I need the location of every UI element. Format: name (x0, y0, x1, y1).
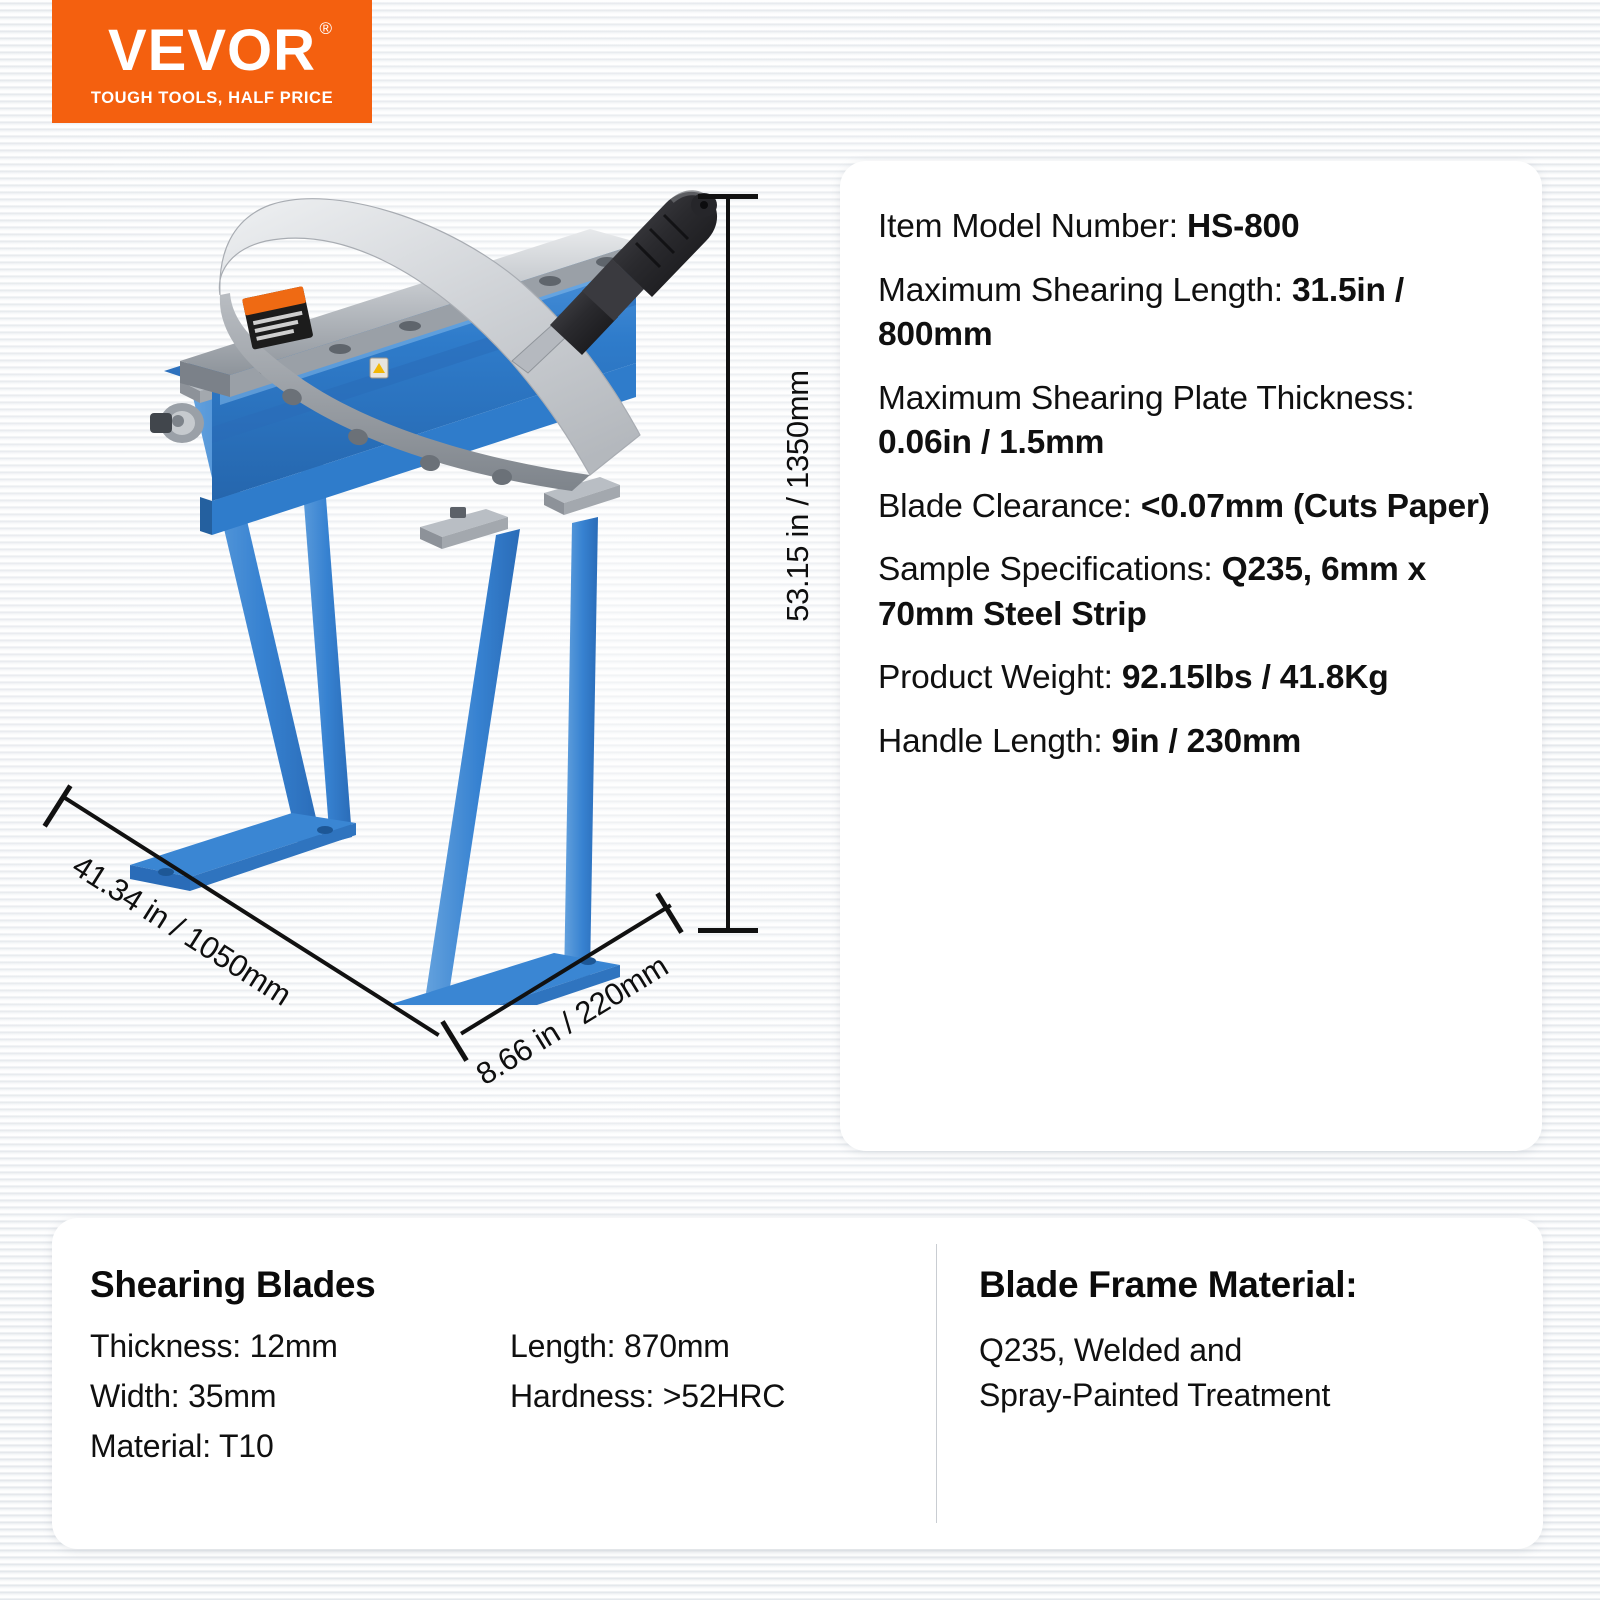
height-dimension-line (726, 196, 730, 932)
spec-row: Item Model Number: HS-800 (878, 205, 1506, 250)
spec-value: 0.06in / 1.5mm (878, 424, 1104, 461)
blade-frame-line-2: Spray-Painted Treatment (979, 1373, 1543, 1418)
spec-row: Product Weight: 92.15lbs / 41.8Kg (878, 656, 1506, 701)
specifications-card: Item Model Number: HS-800Maximum Shearin… (840, 161, 1542, 1151)
shearing-blades-title: Shearing Blades (90, 1264, 936, 1306)
blade-frame-title: Blade Frame Material: (979, 1264, 1543, 1306)
pivot-bolt (150, 403, 204, 443)
spec-value: HS-800 (1187, 208, 1299, 245)
spec-row: Handle Length: 9in / 230mm (878, 720, 1506, 765)
blade-spec-item: Material: T10 (90, 1428, 510, 1465)
product-image (120, 175, 740, 1005)
spec-label: Blade Clearance: (878, 488, 1141, 525)
brand-name: VEVOR ® (108, 22, 316, 80)
spec-label: Maximum Shearing Length: (878, 272, 1292, 309)
spec-value: 92.15lbs / 41.8Kg (1122, 659, 1389, 696)
spec-label: Maximum Shearing Plate Thickness: (878, 380, 1414, 417)
blade-spec-item: Width: 35mm (90, 1378, 510, 1415)
spec-label: Item Model Number: (878, 208, 1187, 245)
registered-trademark-icon: ® (320, 20, 334, 37)
blade-frame-line-1: Q235, Welded and (979, 1328, 1543, 1373)
spec-label: Handle Length: (878, 723, 1112, 760)
specifications-list: Item Model Number: HS-800Maximum Shearin… (840, 205, 1542, 764)
blade-spec-item: Hardness: >52HRC (510, 1378, 936, 1415)
materials-card: Shearing Blades Thickness: 12mmLength: 8… (52, 1218, 1543, 1549)
brand-name-text: VEVOR (108, 18, 316, 83)
brand-tagline: TOUGH TOOLS, HALF PRICE (91, 89, 333, 108)
spec-label: Sample Specifications: (878, 551, 1222, 588)
spec-label: Product Weight: (878, 659, 1122, 696)
height-dimension-label: 53.15 in / 1350mm (780, 370, 816, 622)
height-dimension-cap-bottom (698, 928, 758, 933)
blade-spec-item: Length: 870mm (510, 1328, 936, 1365)
spec-value: 9in / 230mm (1112, 723, 1302, 760)
height-dimension-cap-top (698, 194, 758, 199)
vevor-logo: VEVOR ® TOUGH TOOLS, HALF PRICE (52, 0, 372, 123)
shearing-blades-section: Shearing Blades Thickness: 12mmLength: 8… (52, 1218, 936, 1549)
spec-row: Blade Clearance: <0.07mm (Cuts Paper) (878, 485, 1506, 530)
spec-row: Sample Specifications: Q235, 6mm x 70mm … (878, 548, 1506, 637)
blade-spec-item: Thickness: 12mm (90, 1328, 510, 1365)
spec-row: Maximum Shearing Length: 31.5in / 800mm (878, 269, 1506, 358)
shearing-blades-grid: Thickness: 12mmLength: 870mmWidth: 35mmH… (90, 1328, 936, 1465)
spec-value: <0.07mm (Cuts Paper) (1141, 488, 1490, 525)
blade-frame-section: Blade Frame Material: Q235, Welded and S… (937, 1218, 1543, 1549)
spec-row: Maximum Shearing Plate Thickness: 0.06in… (878, 377, 1506, 466)
stand-right-leg (388, 517, 620, 1005)
